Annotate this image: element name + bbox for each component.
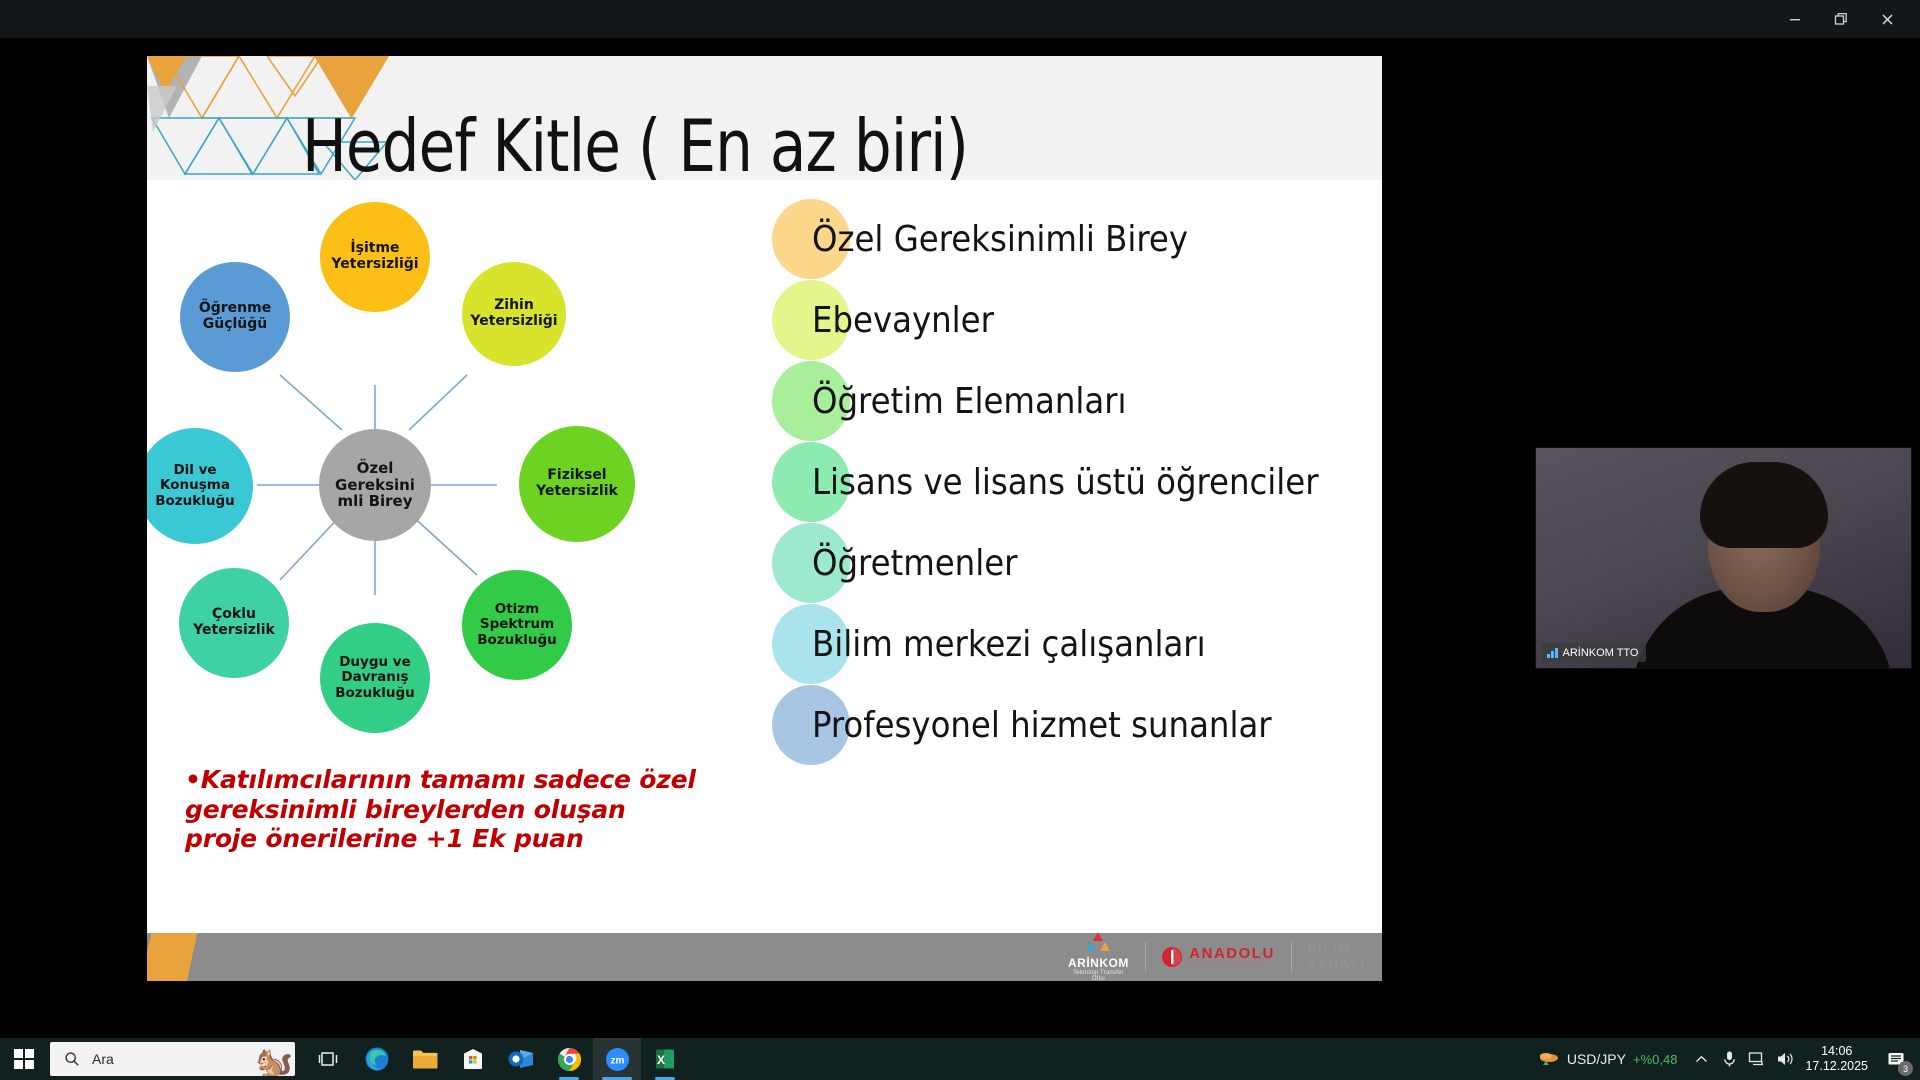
notification-badge: 3 — [1898, 1061, 1913, 1076]
slide-header: Hedef Kitle ( En az biri) — [147, 56, 1382, 180]
radial-diagram: ÖzelGereksinimli Birey İşitmeYetersizliğ… — [147, 180, 767, 780]
list-item-label: Bilim merkezi çalışanları — [812, 624, 1206, 665]
restore-button[interactable] — [1818, 0, 1864, 38]
list-item: Özel Gereksinimli Birey — [772, 200, 1188, 278]
outlook-icon — [508, 1047, 534, 1071]
microphone-button[interactable] — [1715, 1038, 1743, 1080]
zoom-icon: zm — [605, 1047, 630, 1072]
search-input[interactable]: Ara 🐿️ — [50, 1042, 295, 1076]
minimize-button[interactable] — [1772, 0, 1818, 38]
diagram-node-fiziksel: FizikselYetersizlik — [519, 426, 635, 542]
slide-body: ÖzelGereksinimli Birey İşitmeYetersizliğ… — [147, 180, 1382, 860]
task-view-button[interactable] — [305, 1038, 353, 1080]
list-item-label: Ebevaynler — [812, 300, 994, 341]
weather-icon — [1538, 1050, 1560, 1068]
list-item: Ebevaynler — [772, 281, 994, 359]
arinkom-logo-text: ARİNKOM — [1068, 957, 1129, 969]
chrome-icon — [557, 1047, 582, 1072]
clock-date: 17.12.2025 — [1805, 1059, 1868, 1074]
search-placeholder: Ara — [92, 1051, 114, 1067]
participant-video-thumbnail[interactable]: ARİNKOM Teknoloji Transfer Ofisi ARİNKOM… — [1535, 447, 1912, 669]
diagram-node-label: Dil veKonuşmaBozukluğu — [155, 463, 235, 508]
diagram-node-label: OtizmSpektrumBozukluğu — [477, 602, 557, 647]
volume-button[interactable] — [1771, 1038, 1799, 1080]
list-item: Öğretmenler — [772, 524, 1017, 602]
zoom-button[interactable]: zm — [593, 1038, 641, 1080]
slide-footer: ARİNKOM Teknoloji Transfer Ofisi ANADOLU — [147, 933, 1382, 981]
list-item-label: Özel Gereksinimli Birey — [812, 219, 1188, 260]
windows-taskbar: Ara 🐿️ — [0, 1038, 1920, 1080]
stock-widget[interactable]: USD/JPY +%0,48 — [1528, 1050, 1688, 1068]
arinkom-mark-icon — [1083, 933, 1113, 952]
diagram-node-duygu: Duygu veDavranışBozukluğu — [320, 623, 430, 733]
taskbar-app-icons: zm X — [305, 1038, 689, 1080]
footer-logo-group: ARİNKOM Teknoloji Transfer Ofisi ANADOLU — [1052, 933, 1382, 981]
presentation-slide: Hedef Kitle ( En az biri) — [147, 56, 1382, 981]
arinkom-logo-subtext: Teknoloji Transfer Ofisi — [1068, 970, 1129, 981]
minimize-icon — [1788, 12, 1802, 26]
chevron-up-icon — [1695, 1055, 1708, 1064]
diagram-node-label: FizikselYetersizlik — [536, 468, 618, 499]
diagram-node-coklu: ÇokluYetersizlik — [179, 568, 289, 678]
list-item: Öğretim Elemanları — [772, 362, 1127, 440]
diagram-node-isitme: İşitmeYetersizliği — [320, 202, 430, 312]
page-title: Hedef Kitle ( En az biri) — [302, 104, 1222, 180]
store-icon — [461, 1047, 485, 1071]
diagram-center-node: ÖzelGereksinimli Birey — [319, 429, 431, 541]
system-tray: USD/JPY +%0,48 — [1528, 1038, 1920, 1080]
diagram-node-zihin: ZihinYetersizliği — [462, 262, 566, 366]
diagram-node-label: ÖğrenmeGüçlüğü — [199, 301, 271, 332]
diagram-node-label: ZihinYetersizliği — [470, 298, 557, 329]
task-view-icon — [318, 1049, 340, 1069]
zoom-window-titlebar — [0, 0, 1920, 38]
close-button[interactable] — [1864, 0, 1910, 38]
close-icon — [1880, 12, 1895, 27]
excel-icon: X — [653, 1047, 677, 1071]
list-item: Bilim merkezi çalışanları — [772, 605, 1206, 683]
notifications-button[interactable]: 3 — [1876, 1038, 1916, 1080]
shared-screen-stage: Hedef Kitle ( En az biri) — [0, 38, 1920, 1058]
diagram-node-label: Duygu veDavranışBozukluğu — [335, 655, 415, 700]
outlook-button[interactable] — [497, 1038, 545, 1080]
third-logo-text: BİLİM SANAYİ — [1307, 942, 1366, 972]
participant-hair — [1700, 462, 1828, 548]
stock-change: +%0,48 — [1633, 1052, 1677, 1067]
microsoft-store-button[interactable] — [449, 1038, 497, 1080]
list-item-label: Profesyonel hizmet sunanlar — [812, 705, 1272, 746]
list-item-label: Öğretmenler — [812, 543, 1017, 584]
network-button[interactable] — [1743, 1038, 1771, 1080]
anadolu-logo-subtext: ÜNİVERSİTESİ — [1189, 962, 1275, 969]
audio-level-icon — [1547, 647, 1558, 658]
anadolu-logo: ANADOLU ÜNİVERSİTESİ — [1145, 933, 1291, 981]
list-item-label: Lisans ve lisans üstü öğrenciler — [812, 462, 1319, 503]
diagram-node-label: ÇokluYetersizlik — [193, 607, 275, 638]
network-display-icon — [1748, 1051, 1766, 1067]
search-icon — [64, 1051, 80, 1067]
diagram-center-label: ÖzelGereksinimli Birey — [335, 460, 415, 510]
diagram-node-label: İşitmeYetersizliği — [331, 241, 418, 272]
anadolu-logo-text: ANADOLU — [1189, 946, 1275, 961]
restore-icon — [1833, 11, 1849, 27]
diagram-node-ogrenme: ÖğrenmeGüçlüğü — [180, 262, 290, 372]
svg-text:X: X — [657, 1053, 665, 1067]
audience-list: Özel Gereksinimli Birey Ebevaynler Öğret… — [772, 190, 1382, 850]
excel-button[interactable]: X — [641, 1038, 689, 1080]
third-logo: BİLİM SANAYİ — [1291, 933, 1382, 981]
windows-logo-icon — [14, 1049, 35, 1070]
screen: Hedef Kitle ( En az biri) — [0, 0, 1920, 1080]
participant-name-label: ARİNKOM TTO — [1542, 643, 1646, 662]
clock[interactable]: 14:06 17.12.2025 — [1799, 1044, 1876, 1075]
show-hidden-icons-button[interactable] — [1687, 1038, 1715, 1080]
edge-icon — [364, 1046, 390, 1072]
diagram-node-otizm: OtizmSpektrumBozukluğu — [462, 570, 572, 680]
microphone-icon — [1722, 1050, 1737, 1068]
participant-name-text: ARİNKOM TTO — [1563, 647, 1639, 659]
footer-accent-shape — [147, 933, 197, 981]
folder-icon — [412, 1048, 438, 1071]
bonus-points-note: •Katılımcılarının tamamı sadece özel ger… — [185, 765, 705, 854]
file-explorer-button[interactable] — [401, 1038, 449, 1080]
chrome-button[interactable] — [545, 1038, 593, 1080]
svg-text:zm: zm — [610, 1055, 624, 1066]
squirrel-illustration-icon: 🐿️ — [256, 1048, 293, 1076]
arinkom-logo: ARİNKOM Teknoloji Transfer Ofisi — [1052, 933, 1145, 981]
start-button[interactable] — [0, 1038, 48, 1080]
stock-symbol: USD/JPY — [1567, 1051, 1626, 1067]
anadolu-mark-icon — [1161, 946, 1183, 968]
list-item: Profesyonel hizmet sunanlar — [772, 686, 1272, 764]
edge-button[interactable] — [353, 1038, 401, 1080]
clock-time: 14:06 — [1805, 1044, 1868, 1059]
speaker-icon — [1776, 1051, 1795, 1067]
list-item: Lisans ve lisans üstü öğrenciler — [772, 443, 1319, 521]
list-item-label: Öğretim Elemanları — [812, 381, 1127, 422]
